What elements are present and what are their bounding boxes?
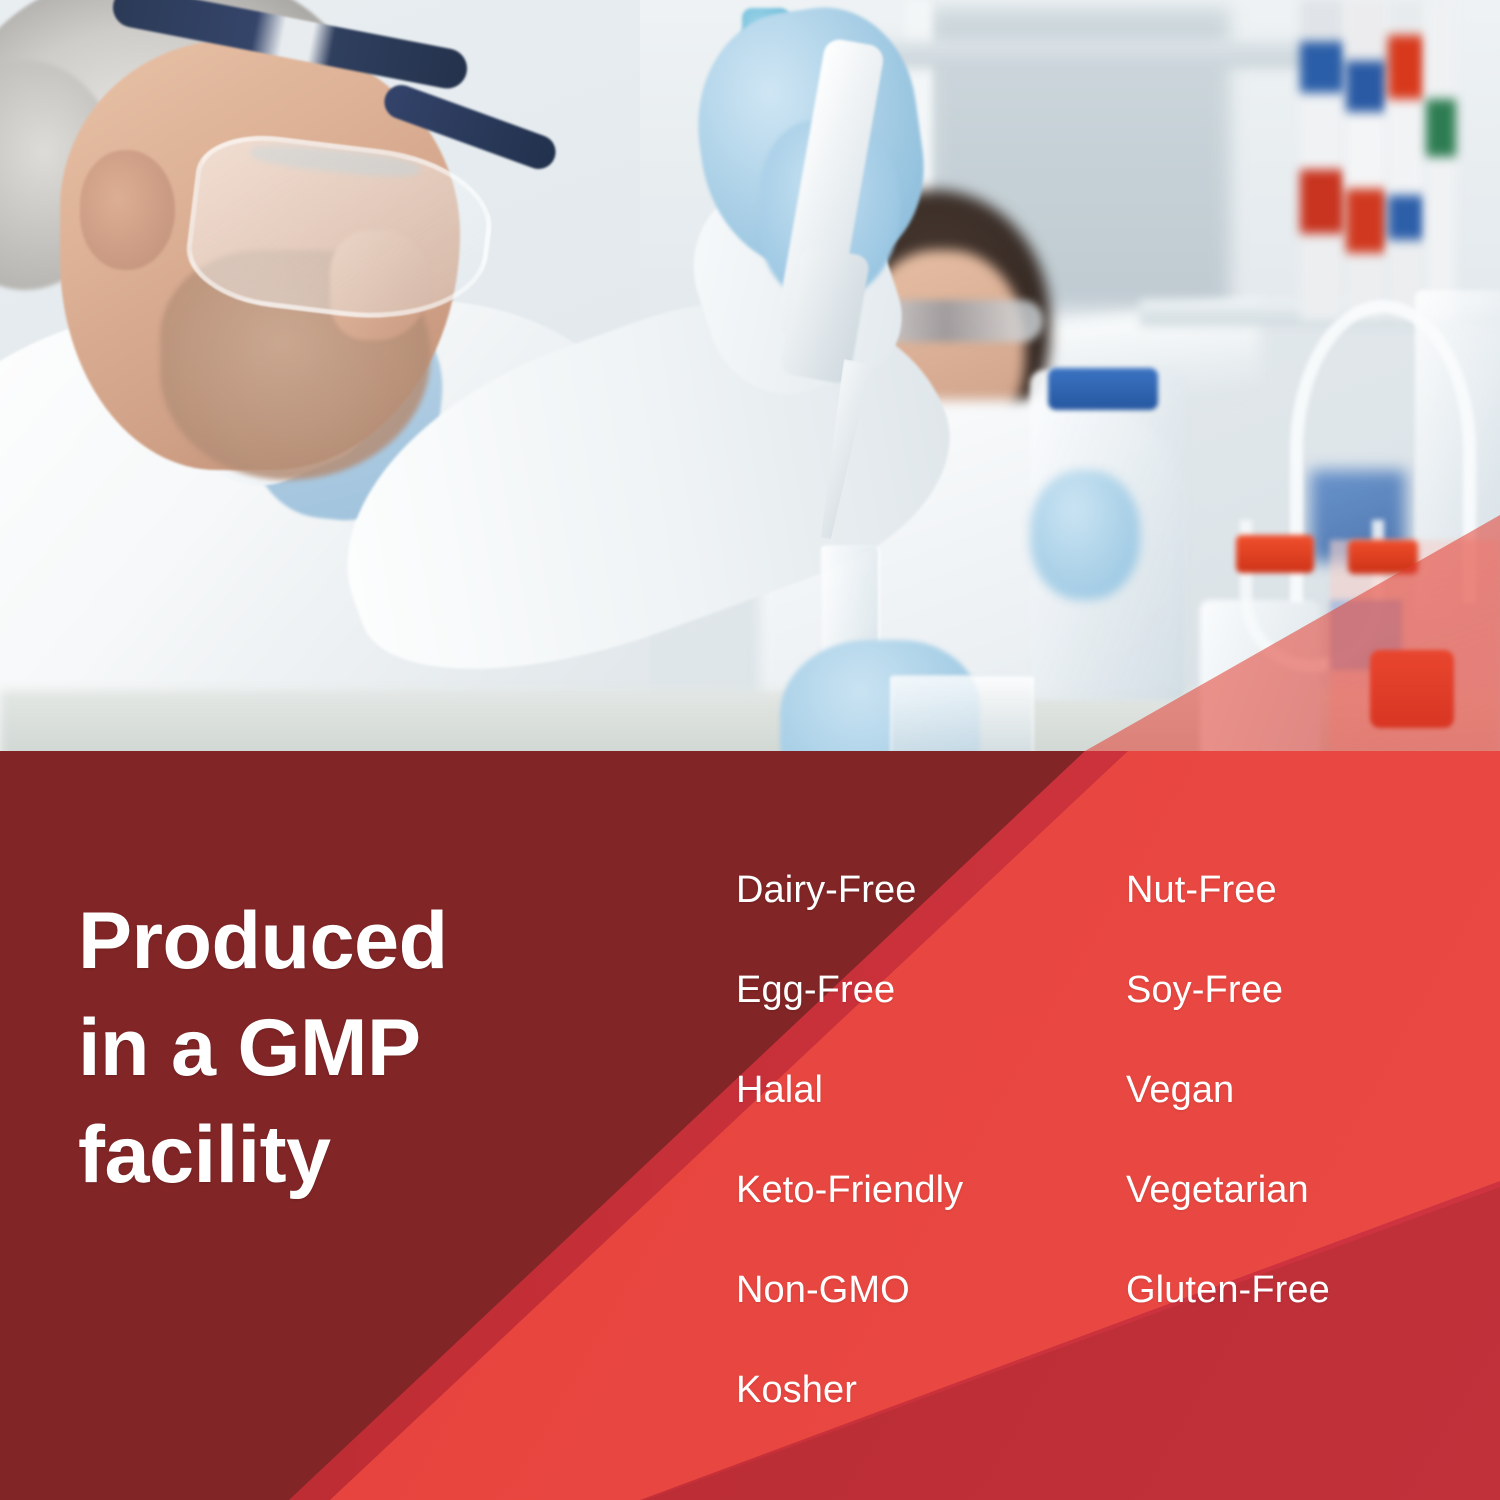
photo-bottle-cap-red bbox=[1236, 535, 1314, 573]
hexagon-icon bbox=[1058, 1065, 1102, 1115]
badge-item: Halal bbox=[668, 1040, 1058, 1140]
badge-label: Keto-Friendly bbox=[736, 1171, 963, 1209]
promo-banner: Produced in a GMP facility Dairy-Free Eg… bbox=[0, 0, 1500, 1500]
headline-line-3: facility bbox=[78, 1102, 638, 1209]
badge-item: Vegan bbox=[1058, 1040, 1448, 1140]
badge-label: Kosher bbox=[736, 1371, 857, 1409]
hexagon-icon bbox=[668, 1365, 712, 1415]
hexagon-icon bbox=[668, 1265, 712, 1315]
photo-gloved-hand-background bbox=[1030, 470, 1140, 600]
badge-label: Vegan bbox=[1126, 1071, 1234, 1109]
photo-binder bbox=[1388, 0, 1424, 320]
badge-item: Gluten-Free bbox=[1058, 1240, 1448, 1340]
hexagon-icon bbox=[1058, 1165, 1102, 1215]
badge-label: Gluten-Free bbox=[1126, 1271, 1330, 1309]
badge-label: Vegetarian bbox=[1126, 1171, 1309, 1209]
hexagon-icon bbox=[668, 1065, 712, 1115]
page-title: Produced in a GMP facility bbox=[78, 888, 638, 1209]
badge-column-left: Dairy-Free Egg-Free Halal Keto-Friendly … bbox=[668, 840, 1058, 1440]
headline-line-1: Produced bbox=[78, 888, 638, 995]
badge-label: Soy-Free bbox=[1126, 971, 1283, 1009]
hexagon-icon bbox=[1058, 1265, 1102, 1315]
badge-label: Nut-Free bbox=[1126, 871, 1277, 909]
hexagon-icon bbox=[1058, 865, 1102, 915]
badge-item: Non-GMO bbox=[668, 1240, 1058, 1340]
badge-item: Vegetarian bbox=[1058, 1140, 1448, 1240]
attribute-badge-list: Dairy-Free Egg-Free Halal Keto-Friendly … bbox=[668, 840, 1468, 1440]
photo-binder bbox=[1300, 0, 1344, 320]
lab-photo bbox=[0, 0, 1500, 751]
photo-bottle-cap-blue bbox=[1048, 368, 1158, 410]
badge-label: Dairy-Free bbox=[736, 871, 916, 909]
badge-label: Egg-Free bbox=[736, 971, 895, 1009]
badge-label: Non-GMO bbox=[736, 1271, 910, 1309]
badge-item: Nut-Free bbox=[1058, 840, 1448, 940]
hexagon-icon bbox=[668, 865, 712, 915]
badge-item: Dairy-Free bbox=[668, 840, 1058, 940]
badge-item: Soy-Free bbox=[1058, 940, 1448, 1040]
badge-item: Kosher bbox=[668, 1340, 1058, 1440]
headline-line-2: in a GMP bbox=[78, 995, 638, 1102]
photo-binder bbox=[1346, 0, 1386, 320]
badge-item: Keto-Friendly bbox=[668, 1140, 1058, 1240]
badge-column-right: Nut-Free Soy-Free Vegan Vegetarian Glute… bbox=[1058, 840, 1448, 1440]
badge-item: Egg-Free bbox=[668, 940, 1058, 1040]
photo-scientist-ear bbox=[80, 150, 175, 270]
hexagon-icon bbox=[668, 1165, 712, 1215]
badge-label: Halal bbox=[736, 1071, 823, 1109]
photo-beaker bbox=[890, 675, 1034, 751]
hexagon-icon bbox=[668, 965, 712, 1015]
photo-binder bbox=[1426, 0, 1456, 320]
hexagon-icon bbox=[1058, 965, 1102, 1015]
